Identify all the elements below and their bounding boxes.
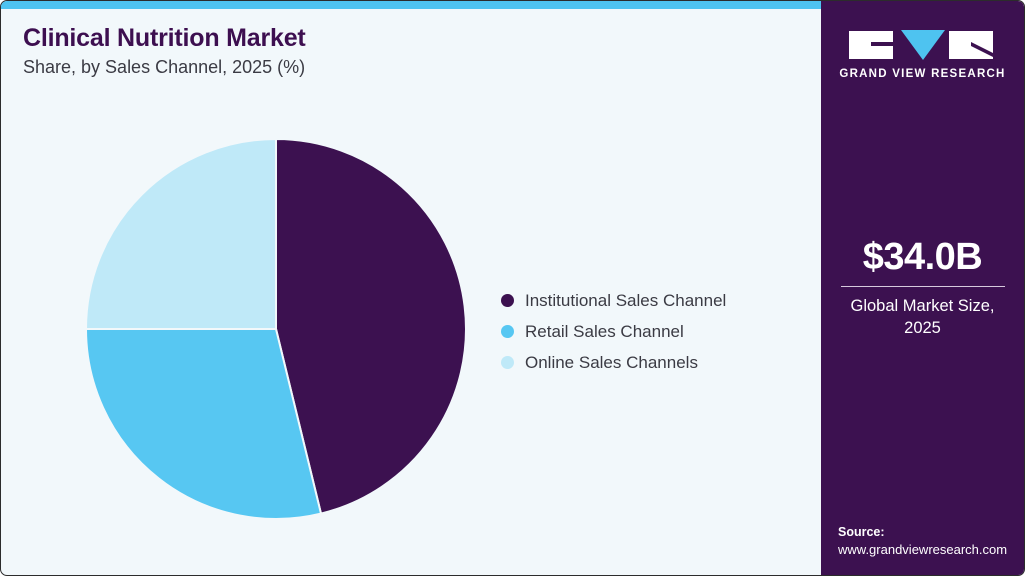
page-title: Clinical Nutrition Market <box>23 23 783 53</box>
source-block: Source: www.grandviewresearch.com <box>838 524 1024 559</box>
legend-label: Retail Sales Channel <box>525 322 684 342</box>
legend-label: Institutional Sales Channel <box>525 291 726 311</box>
brand-name: GRAND VIEW RESEARCH <box>821 68 1024 80</box>
stat-value: $34.0B <box>821 235 1024 279</box>
chart-legend: Institutional Sales Channel Retail Sales… <box>501 285 726 378</box>
key-stat: $34.0B Global Market Size, 2025 <box>821 235 1024 339</box>
stat-divider <box>841 286 1005 287</box>
side-panel: GRAND VIEW RESEARCH $34.0B Global Market… <box>821 1 1024 576</box>
legend-swatch-icon <box>501 325 514 338</box>
heading-block: Clinical Nutrition Market Share, by Sale… <box>23 23 783 79</box>
source-title: Source: <box>838 524 1024 541</box>
legend-item-institutional[interactable]: Institutional Sales Channel <box>501 285 726 316</box>
legend-swatch-icon <box>501 294 514 307</box>
source-url[interactable]: www.grandviewresearch.com <box>838 541 1024 559</box>
gvr-logo-icon <box>849 29 997 61</box>
top-accent-bar <box>1 1 823 9</box>
page-subtitle: Share, by Sales Channel, 2025 (%) <box>23 56 783 79</box>
stat-label: Global Market Size, 2025 <box>821 295 1024 339</box>
legend-item-retail[interactable]: Retail Sales Channel <box>501 316 726 347</box>
pie-chart-svg <box>86 139 466 519</box>
pie-chart <box>86 139 466 519</box>
brand-logo: GRAND VIEW RESEARCH <box>821 29 1024 80</box>
legend-item-online[interactable]: Online Sales Channels <box>501 347 726 378</box>
infographic-card: Clinical Nutrition Market Share, by Sale… <box>0 0 1025 576</box>
pie-slice[interactable] <box>86 139 276 329</box>
legend-swatch-icon <box>501 356 514 369</box>
legend-label: Online Sales Channels <box>525 353 698 373</box>
